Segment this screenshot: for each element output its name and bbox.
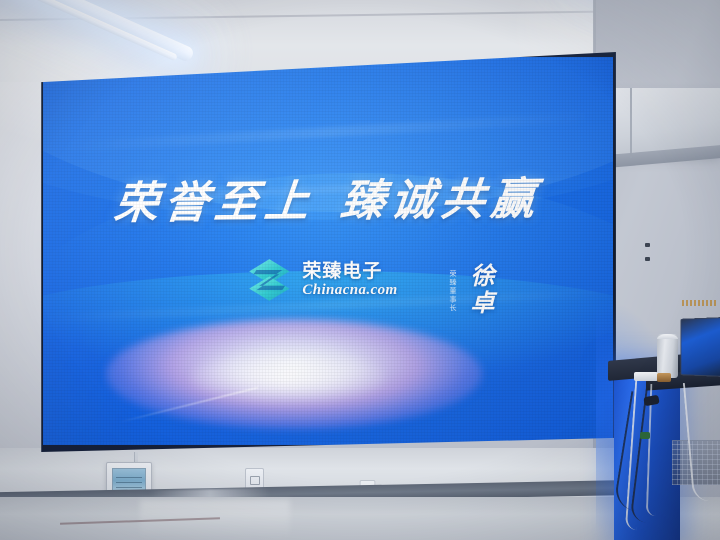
power-adapter-secondary bbox=[657, 373, 671, 382]
control-panel-display bbox=[112, 468, 146, 491]
wall-cabinet bbox=[608, 88, 720, 154]
floor bbox=[0, 497, 720, 540]
cable-connector bbox=[640, 432, 650, 439]
screen-sheen bbox=[43, 57, 613, 445]
wall-cabinet-edge bbox=[630, 88, 632, 158]
led-video-wall[interactable]: 荣誉至上臻诚共赢 bbox=[36, 50, 620, 452]
photo-scene: 荣誉至上臻诚共赢 bbox=[0, 0, 720, 540]
cylindrical-speaker bbox=[657, 334, 678, 378]
wall-mount-dot bbox=[645, 257, 650, 261]
screen-surface: 荣誉至上臻诚共赢 bbox=[43, 57, 613, 445]
wall-mount-dot bbox=[645, 243, 650, 247]
laptop[interactable] bbox=[680, 317, 720, 377]
wall-sticker bbox=[682, 300, 716, 306]
